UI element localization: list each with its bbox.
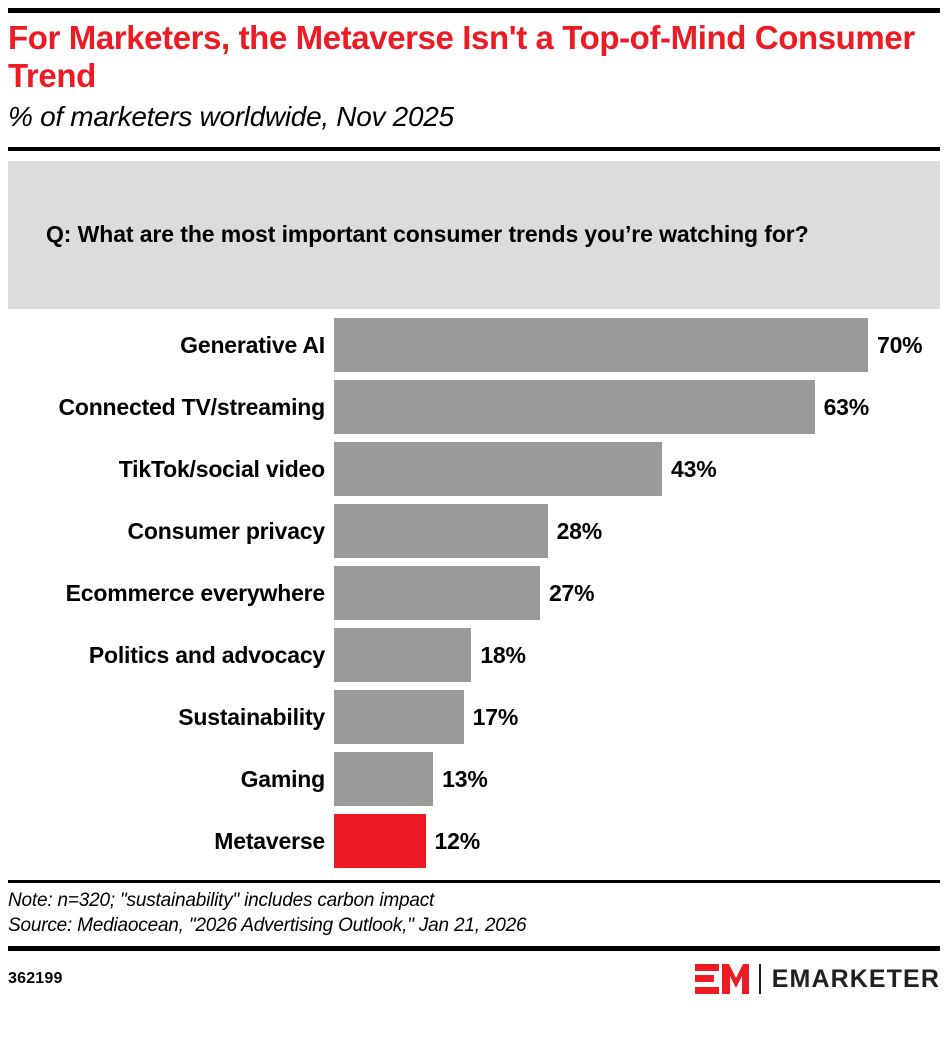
bar-value-label: 28% — [548, 518, 602, 545]
bar-category-label: Ecommerce everywhere — [8, 580, 334, 607]
bar-category-label: Gaming — [8, 766, 334, 793]
bar-fill — [334, 628, 471, 682]
title-divider — [8, 147, 940, 151]
bar-row: Generative AI70% — [8, 318, 940, 372]
bar-track: 70% — [334, 318, 940, 372]
bar-fill — [334, 690, 464, 744]
bar-value-label: 18% — [471, 642, 525, 669]
bar-category-label: Generative AI — [8, 332, 334, 359]
chart-card: For Marketers, the Metaverse Isn't a Top… — [0, 8, 948, 1046]
note-text: Note: n=320; "sustainability" includes c… — [8, 888, 940, 913]
bar-value-label: 43% — [662, 456, 716, 483]
bar-category-label: Sustainability — [8, 704, 334, 731]
bar-fill — [334, 442, 662, 496]
bar-value-label: 70% — [868, 332, 922, 359]
bar-fill — [334, 504, 548, 558]
bar-row: Ecommerce everywhere27% — [8, 566, 940, 620]
title-block: For Marketers, the Metaverse Isn't a Top… — [8, 13, 940, 137]
bar-row: Sustainability17% — [8, 690, 940, 744]
bar-track: 18% — [334, 628, 940, 682]
chart-subtitle: % of marketers worldwide, Nov 2025 — [8, 100, 940, 134]
bar-fill — [334, 380, 815, 434]
footnotes: Note: n=320; "sustainability" includes c… — [8, 883, 940, 942]
bar-category-label: Metaverse — [8, 828, 334, 855]
bar-row: Gaming13% — [8, 752, 940, 806]
question-banner: Q: What are the most important consumer … — [8, 161, 940, 309]
chart-id: 362199 — [8, 970, 63, 988]
bar-row: Politics and advocacy18% — [8, 628, 940, 682]
logo-wordmark: EMARKETER — [772, 965, 940, 994]
bar-fill — [334, 318, 868, 372]
bar-track: 43% — [334, 442, 940, 496]
bar-category-label: Consumer privacy — [8, 518, 334, 545]
bar-track: 12% — [334, 814, 940, 868]
source-text: Source: Mediaocean, "2026 Advertising Ou… — [8, 913, 940, 938]
survey-question: Q: What are the most important consumer … — [46, 217, 809, 253]
bar-track: 13% — [334, 752, 940, 806]
em-monogram-icon — [695, 963, 749, 995]
bar-track: 28% — [334, 504, 940, 558]
bar-value-label: 63% — [815, 394, 869, 421]
bar-chart-plot: Generative AI70%Connected TV/streaming63… — [8, 318, 940, 868]
bar-row: Metaverse12% — [8, 814, 940, 868]
bar-category-label: Politics and advocacy — [8, 642, 334, 669]
bar-value-label: 13% — [433, 766, 487, 793]
bar-category-label: Connected TV/streaming — [8, 394, 334, 421]
bar-track: 17% — [334, 690, 940, 744]
bar-value-label: 12% — [426, 828, 480, 855]
bar-track: 27% — [334, 566, 940, 620]
emarketer-logo: EMARKETER — [695, 962, 940, 996]
bar-row: Consumer privacy28% — [8, 504, 940, 558]
footer-bar: 362199 EMARKETER — [8, 951, 940, 996]
bar-fill — [334, 566, 540, 620]
bar-value-label: 17% — [464, 704, 518, 731]
bar-row: Connected TV/streaming63% — [8, 380, 940, 434]
bar-category-label: TikTok/social video — [8, 456, 334, 483]
bar-row: TikTok/social video43% — [8, 442, 940, 496]
bar-fill — [334, 752, 433, 806]
logo-divider — [759, 964, 761, 994]
bar-fill-highlight — [334, 814, 426, 868]
bar-value-label: 27% — [540, 580, 594, 607]
page-title: For Marketers, the Metaverse Isn't a Top… — [8, 19, 940, 96]
bar-track: 63% — [334, 380, 940, 434]
